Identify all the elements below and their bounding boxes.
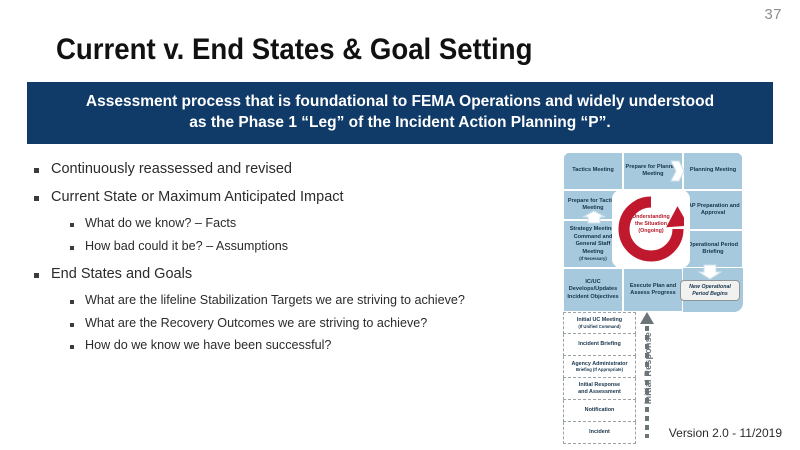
list-item: Current State or Maximum Anticipated Imp… <box>34 188 554 206</box>
cell-label: Execute Plan and Assess Progress <box>625 283 681 298</box>
page-number: 37 <box>764 6 782 23</box>
bullet-text: Continuously reassessed and revised <box>51 160 292 178</box>
cell-execute-plan: Execute Plan and Assess Progress <box>623 268 683 312</box>
bullet-text: What are the lifeline Stabilization Targ… <box>85 293 465 309</box>
cell-label: IC/UC Develops/Updates Incident Objectiv… <box>565 279 621 301</box>
bullet-square-icon <box>70 323 74 327</box>
cell-label: Tactics Meeting <box>572 167 614 174</box>
arrow-down-icon <box>697 264 723 280</box>
cell-planning-meeting: Planning Meeting <box>683 152 743 190</box>
cell-tactics-meeting: Tactics Meeting <box>563 152 623 190</box>
list-item: What do we know? – Facts <box>70 216 554 232</box>
list-item: Initial UC Meeting (If Unified Command) <box>563 312 636 334</box>
center-line-2: the Situation <box>635 221 667 227</box>
cell-label: Operational Period Briefing <box>685 242 741 257</box>
list-item: Notification <box>563 400 636 422</box>
initial-response-label: Initial Response <box>643 332 653 404</box>
list-item: What are the Recovery Outcomes we are st… <box>70 316 554 332</box>
list-item: Incident Briefing <box>563 334 636 356</box>
bullet-text: How bad could it be? – Assumptions <box>85 239 288 255</box>
banner-line-1: Assessment process that is foundational … <box>86 93 714 110</box>
stack-note: and Assessment <box>578 389 621 396</box>
banner-line-2: as the Phase 1 “Leg” of the Incident Act… <box>189 114 610 131</box>
bullet-square-icon <box>34 196 39 201</box>
stack-label: Initial Response <box>579 382 620 388</box>
bullet-group-3: End States and Goals What are the lifeli… <box>34 265 554 354</box>
cell-note: (If Necessary) <box>579 256 606 262</box>
list-item: Agency Administrator Briefing (If Approp… <box>563 356 636 378</box>
cell-operational-period-briefing: Operational Period Briefing <box>683 230 743 268</box>
bullet-text: End States and Goals <box>51 265 192 283</box>
cell-label: Planning Meeting <box>690 167 736 174</box>
bullet-square-icon <box>34 273 39 278</box>
bullet-square-icon <box>70 345 74 349</box>
bullet-text: Current State or Maximum Anticipated Imp… <box>51 188 344 206</box>
bullet-group-1: Continuously reassessed and revised <box>34 160 554 178</box>
stack-label: Agency Administrator <box>571 361 627 367</box>
bullet-square-icon <box>34 168 39 173</box>
stack-label: Initial UC Meeting <box>577 317 622 323</box>
bullet-list: Continuously reassessed and revised Curr… <box>34 160 554 361</box>
cell-iap-preparation: IAP Preparation and Approval <box>683 190 743 230</box>
nop-label: New Operational Period Begins <box>681 284 739 298</box>
version-footer: Version 2.0 - 11/2019 <box>669 426 782 440</box>
stack-label: Incident Briefing <box>578 341 621 347</box>
bullet-square-icon <box>70 223 74 227</box>
cell-ic-uc-objectives: IC/UC Develops/Updates Incident Objectiv… <box>563 268 623 312</box>
page-title: Current v. End States & Goal Setting <box>56 34 532 66</box>
list-item: End States and Goals <box>34 265 554 283</box>
list-item: How do we know we have been successful? <box>70 338 554 354</box>
bullet-text: How do we know we have been successful? <box>85 338 331 354</box>
list-item: Incident <box>563 422 636 444</box>
bullet-text: What do we know? – Facts <box>85 216 236 232</box>
center-line-1: Understanding <box>632 214 669 220</box>
bullet-group-2: Current State or Maximum Anticipated Imp… <box>34 188 554 255</box>
bullet-square-icon <box>70 246 74 250</box>
initial-response-stack: Initial UC Meeting (If Unified Command) … <box>563 312 636 444</box>
stack-label: Notification <box>585 407 615 413</box>
banner-text: Assessment process that is foundational … <box>86 92 714 134</box>
arrow-right-icon <box>669 158 685 184</box>
list-item: What are the lifeline Stabilization Targ… <box>70 293 554 309</box>
cell-label: IAP Preparation and Approval <box>685 203 741 218</box>
bullet-text: What are the Recovery Outcomes we are st… <box>85 316 427 332</box>
new-operational-period-box: New Operational Period Begins <box>680 280 740 301</box>
center-line-3: (Ongoing) <box>638 228 663 234</box>
list-item: How bad could it be? – Assumptions <box>70 239 554 255</box>
stack-note: (If Unified Command) <box>577 324 622 329</box>
list-item: Initial Response and Assessment <box>563 378 636 400</box>
stack-note: Briefing (If Appropriate) <box>571 367 627 372</box>
list-item: Continuously reassessed and revised <box>34 160 554 178</box>
arrow-up-icon <box>581 210 607 224</box>
stack-label: Incident <box>589 429 610 435</box>
highlight-banner: Assessment process that is foundational … <box>27 82 773 144</box>
bullet-square-icon <box>70 300 74 304</box>
slide: 37 Current v. End States & Goal Setting … <box>0 0 800 450</box>
planning-p-diagram: Tactics Meeting Prepare for Planning Mee… <box>563 152 779 437</box>
center-label: Understanding the Situation (Ongoing) <box>621 214 681 235</box>
